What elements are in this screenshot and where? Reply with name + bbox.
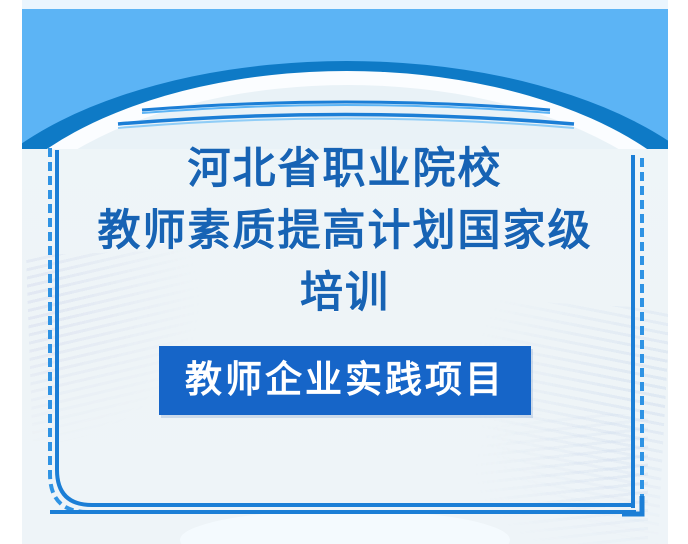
page-title: 河北省职业院校 教师素质提高计划国家级 培训 — [22, 138, 668, 324]
top-pale-strip — [22, 0, 668, 9]
title-line-2: 教师素质提高计划国家级 — [68, 200, 622, 262]
header-sky-band — [22, 9, 668, 149]
title-line-1: 河北省职业院校 — [68, 138, 622, 200]
poster-root: 河北省职业院校 教师素质提高计划国家级 培训 教师企业实践项目 — [0, 0, 688, 544]
subtitle-banner-wrapper: 教师企业实践项目 — [22, 346, 668, 415]
poster-canvas: 河北省职业院校 教师素质提高计划国家级 培训 教师企业实践项目 — [22, 0, 668, 544]
poster-content: 河北省职业院校 教师素质提高计划国家级 培训 教师企业实践项目 — [22, 138, 668, 415]
bottom-arc-decoration — [180, 510, 510, 544]
title-line-3: 培训 — [68, 262, 622, 324]
subtitle-banner: 教师企业实践项目 — [159, 346, 531, 415]
